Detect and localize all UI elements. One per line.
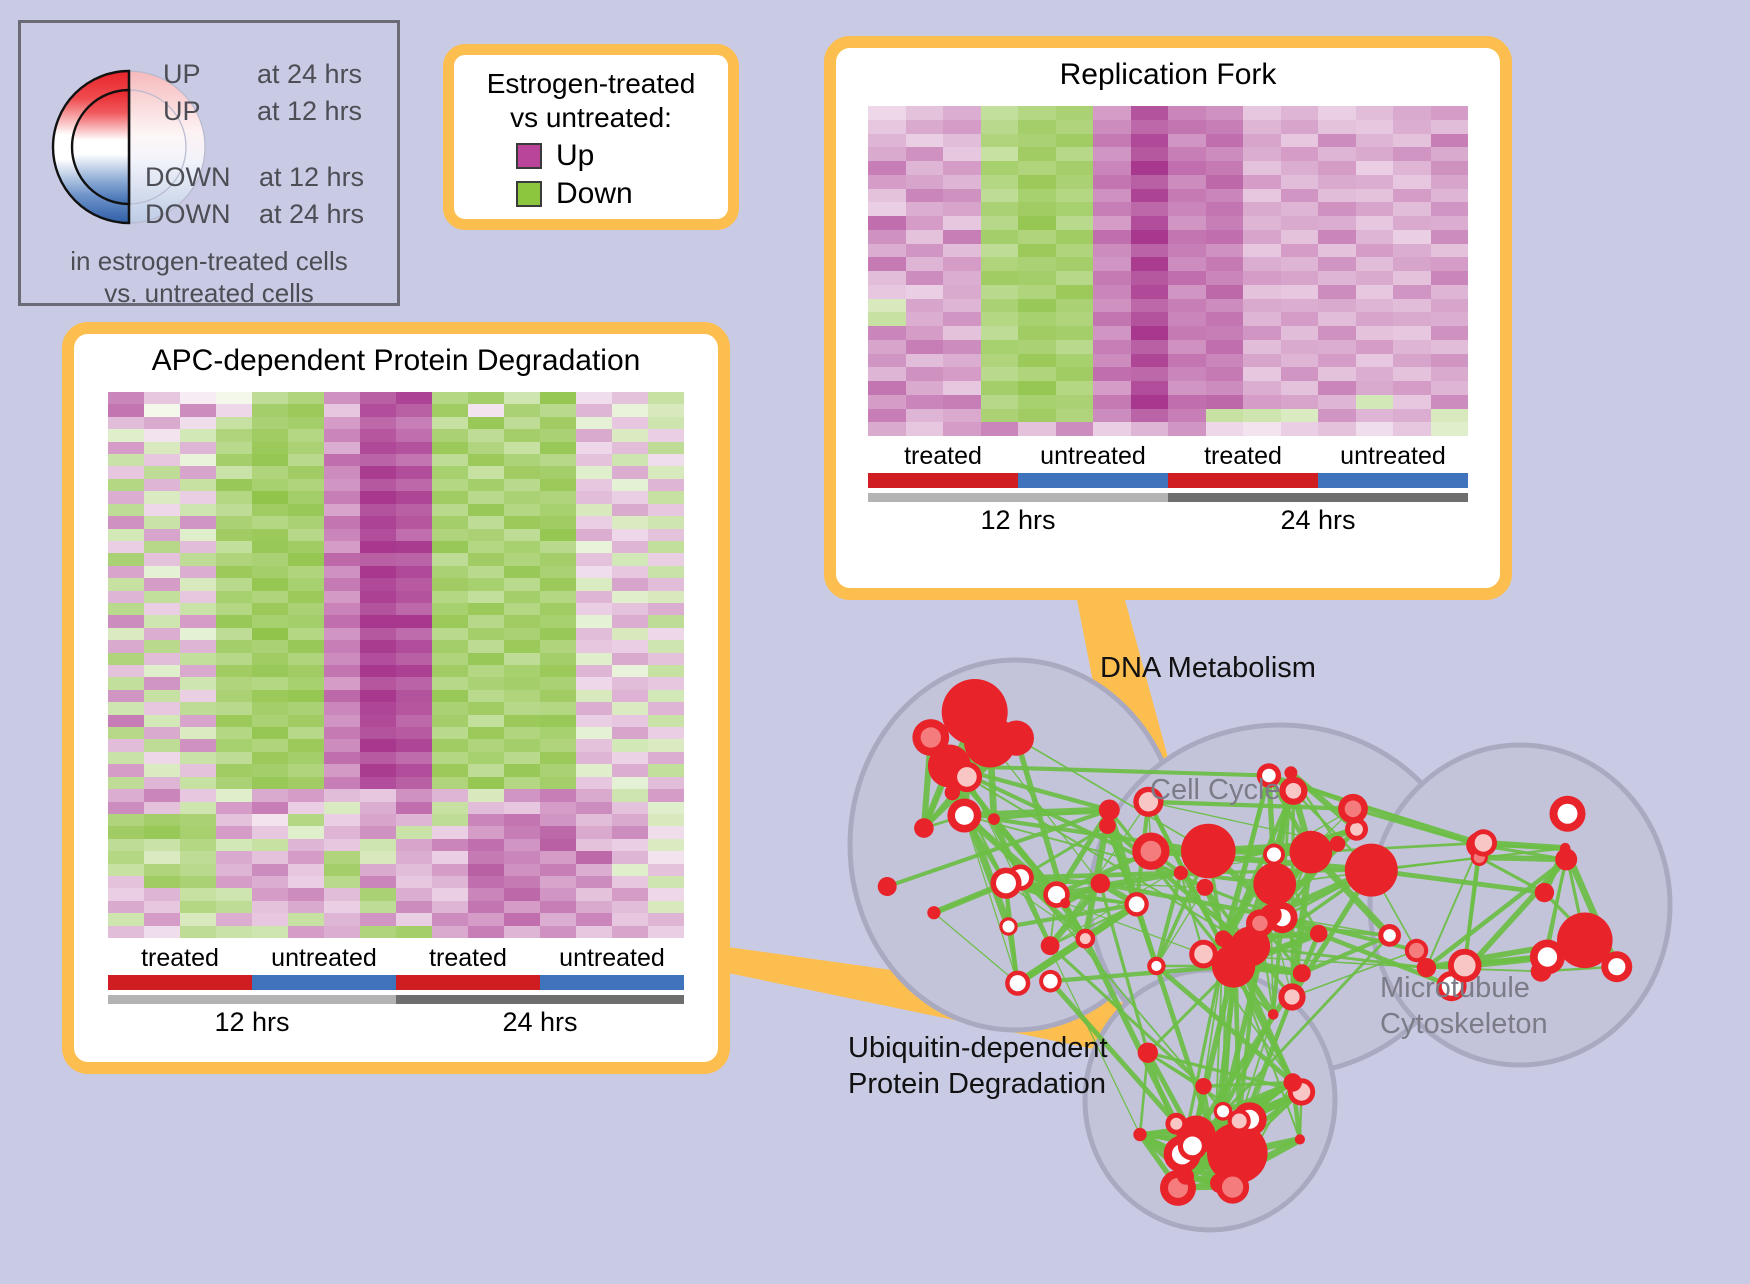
heatmap-cell — [906, 120, 944, 134]
heatmap-cell — [504, 727, 540, 739]
heatmap-cell — [648, 615, 684, 627]
heatmap-cell — [943, 271, 981, 285]
heatmap-cell — [252, 826, 288, 838]
heatmap-cell — [1281, 147, 1319, 161]
network-node[interactable] — [1253, 863, 1296, 906]
replication-time-bars — [868, 493, 1468, 502]
heatmap-cell — [504, 653, 540, 665]
heatmap-cell — [981, 299, 1019, 313]
heatmap-cell — [1168, 161, 1206, 175]
heatmap-cell — [360, 417, 396, 429]
network-node-core — [1080, 933, 1091, 944]
heatmap-cell — [943, 147, 981, 161]
heatmap-cell — [612, 926, 648, 938]
heatmap-cell — [252, 603, 288, 615]
heatmap-cell — [180, 839, 216, 851]
heatmap-cell — [1356, 189, 1394, 203]
heatmap-cell — [432, 566, 468, 578]
network-node[interactable] — [1133, 1128, 1146, 1141]
heatmap-cell — [504, 876, 540, 888]
heatmap-cell — [288, 566, 324, 578]
heatmap-cell — [504, 541, 540, 553]
heatmap-cell — [576, 690, 612, 702]
network-node-core — [1267, 847, 1281, 861]
heatmap-cell — [324, 913, 360, 925]
heatmap-cell — [612, 615, 648, 627]
cluster-label-dna-metabolism: DNA Metabolism — [1100, 650, 1316, 686]
heatmap-cell — [612, 541, 648, 553]
network-node[interactable] — [1330, 836, 1346, 852]
heatmap-cell — [1093, 299, 1131, 313]
heatmap-cell — [540, 504, 576, 516]
heatmap-cell — [1168, 299, 1206, 313]
heatmap-cell — [144, 591, 180, 603]
heatmap-cell — [216, 702, 252, 714]
network-node[interactable] — [878, 877, 897, 896]
heatmap-cell — [468, 901, 504, 913]
heatmap-cell — [288, 529, 324, 541]
heatmap-cell — [648, 690, 684, 702]
panel-replication-title: Replication Fork — [836, 48, 1500, 92]
heatmap-cell — [144, 404, 180, 416]
heatmap-cell — [180, 591, 216, 603]
heatmap-cell — [1018, 106, 1056, 120]
heatmap-cell — [981, 202, 1019, 216]
heatmap-cell — [576, 826, 612, 838]
heatmap-cell — [1056, 271, 1094, 285]
heatmap-cell — [943, 409, 981, 423]
heatmap-cell — [1206, 381, 1244, 395]
heatmap-cell — [1431, 395, 1469, 409]
network-node[interactable] — [1138, 1043, 1158, 1063]
heatmap-cell — [252, 715, 288, 727]
heatmap-cell — [360, 752, 396, 764]
heatmap-cell — [504, 777, 540, 789]
heatmap-cell — [612, 516, 648, 528]
heatmap-cell — [868, 381, 906, 395]
heatmap-cell — [1093, 244, 1131, 258]
network-node[interactable] — [1535, 883, 1554, 902]
heatmap-cell — [1356, 381, 1394, 395]
heatmap-cell — [108, 615, 144, 627]
heatmap-cell — [504, 826, 540, 838]
heatmap-cell — [396, 628, 432, 640]
heatmap-cell — [1056, 354, 1094, 368]
heatmap-cell — [324, 541, 360, 553]
heatmap-cell — [1393, 244, 1431, 258]
heatmap-cell — [576, 553, 612, 565]
network-node[interactable] — [988, 813, 1000, 825]
heatmap-cell — [1168, 422, 1206, 436]
heatmap-cell — [108, 888, 144, 900]
heatmap-cell — [108, 516, 144, 528]
apc-group-bars — [108, 975, 684, 990]
network-node[interactable] — [1204, 1133, 1226, 1155]
heatmap-cell — [324, 665, 360, 677]
heatmap-cell — [612, 702, 648, 714]
network-node[interactable] — [1181, 824, 1236, 879]
heatmap-cell — [906, 216, 944, 230]
heatmap-cell — [324, 702, 360, 714]
heatmap-cell — [144, 479, 180, 491]
heatmap-cell — [1431, 299, 1469, 313]
heatmap-cell — [648, 926, 684, 938]
heatmap-cell — [432, 516, 468, 528]
heatmap-cell — [868, 216, 906, 230]
heatmap-cell — [108, 814, 144, 826]
heatmap-cell — [1356, 244, 1394, 258]
heatmap-cell — [324, 802, 360, 814]
heatmap-cell — [868, 244, 906, 258]
heatmap-cell — [360, 851, 396, 863]
heatmap-cell — [1393, 312, 1431, 326]
heatmap-cell — [468, 404, 504, 416]
heatmap-cell — [108, 479, 144, 491]
heatmap-cell — [1168, 395, 1206, 409]
heatmap-cell — [1093, 312, 1131, 326]
network-node[interactable] — [1295, 1134, 1305, 1144]
heatmap-cell — [576, 739, 612, 751]
heatmap-cell — [504, 864, 540, 876]
heatmap-cell — [396, 888, 432, 900]
heatmap-cell — [648, 777, 684, 789]
heatmap-cell — [906, 134, 944, 148]
pathway-network-graph[interactable]: DNA Metabolism Cell Cycle Microtubule Cy… — [780, 600, 1740, 1279]
heatmap-cell — [1131, 134, 1169, 148]
heatmap-cell — [216, 417, 252, 429]
heatmap-cell — [432, 715, 468, 727]
heatmap-cell — [432, 789, 468, 801]
heatmap-cell — [468, 727, 504, 739]
heatmap-cell — [144, 876, 180, 888]
apc-group-3: untreated — [540, 944, 684, 973]
apc-group-1: untreated — [252, 944, 396, 973]
network-node-core — [1183, 1137, 1202, 1156]
heatmap-cell — [1131, 189, 1169, 203]
heatmap-cell — [216, 504, 252, 516]
ring-legend-box: UP at 24 hrs UP at 12 hrs DOWN at 12 hrs… — [18, 20, 400, 306]
heatmap-cell — [216, 814, 252, 826]
heatmap-cell — [324, 876, 360, 888]
heatmap-cell — [576, 913, 612, 925]
network-node[interactable] — [1268, 1009, 1279, 1020]
heatmap-cell — [504, 690, 540, 702]
heatmap-cell — [504, 529, 540, 541]
heatmap-cell — [1431, 175, 1469, 189]
heatmap-cell — [612, 442, 648, 454]
heatmap-cell — [1281, 340, 1319, 354]
heatmap-cell — [540, 764, 576, 776]
heatmap-cell — [504, 702, 540, 714]
heatmap-cell — [1131, 367, 1169, 381]
heatmap-cell — [360, 566, 396, 578]
heatmap-cell — [540, 404, 576, 416]
heatmap-cell — [981, 106, 1019, 120]
heatmap-cell — [396, 864, 432, 876]
heatmap-cell — [1281, 381, 1319, 395]
heatmap-cell — [1431, 326, 1469, 340]
heatmap-cell — [216, 739, 252, 751]
heatmap-cell — [324, 677, 360, 689]
heatmap-cell — [1206, 312, 1244, 326]
heatmap-cell — [1393, 326, 1431, 340]
ring-legend-footer: in estrogen-treated cells vs. untreated … — [21, 245, 397, 309]
heatmap-cell — [612, 553, 648, 565]
heatmap-cell — [612, 789, 648, 801]
heatmap-cell — [216, 802, 252, 814]
heatmap-cell — [1206, 230, 1244, 244]
heatmap-cell — [144, 926, 180, 938]
heatmap-cell — [1131, 395, 1169, 409]
heatmap-cell — [648, 466, 684, 478]
heatmap-cell — [1356, 367, 1394, 381]
network-node[interactable] — [1293, 964, 1311, 982]
heatmap-cell — [981, 244, 1019, 258]
figure-root: UP at 24 hrs UP at 12 hrs DOWN at 12 hrs… — [0, 0, 1750, 1279]
heatmap-cell — [1093, 202, 1131, 216]
heatmap-cell — [1018, 422, 1056, 436]
heatmap-cell — [108, 864, 144, 876]
network-node[interactable] — [1284, 766, 1297, 779]
heatmap-cell — [360, 864, 396, 876]
heatmap-cell — [540, 479, 576, 491]
heatmap-cell — [1018, 230, 1056, 244]
heatmap-cell — [1431, 271, 1469, 285]
network-node[interactable] — [1310, 925, 1328, 943]
heatmap-cell — [540, 442, 576, 454]
heatmap-cell — [288, 901, 324, 913]
heatmap-cell — [1018, 120, 1056, 134]
heatmap-cell — [540, 876, 576, 888]
network-node[interactable] — [1041, 936, 1060, 955]
heatmap-cell — [612, 404, 648, 416]
heatmap-cell — [216, 516, 252, 528]
heatmap-cell — [1093, 189, 1131, 203]
heatmap-cell — [468, 677, 504, 689]
heatmap-cell — [360, 876, 396, 888]
heatmap-cell — [540, 839, 576, 851]
heatmap-cell — [1018, 147, 1056, 161]
heatmap-cell — [981, 134, 1019, 148]
heatmap-cell — [612, 566, 648, 578]
heatmap-cell — [108, 454, 144, 466]
heatmap-cell — [468, 913, 504, 925]
heatmap-cell — [180, 429, 216, 441]
heatmap-cell — [1318, 285, 1356, 299]
heatmap-cell — [1243, 299, 1281, 313]
heatmap-cell — [943, 161, 981, 175]
heatmap-cell — [504, 913, 540, 925]
heatmap-cell — [108, 541, 144, 553]
heatmap-cell — [868, 257, 906, 271]
network-node-core — [1232, 1114, 1247, 1129]
heatmap-cell — [468, 566, 504, 578]
heatmap-cell — [432, 764, 468, 776]
network-node[interactable] — [1560, 843, 1571, 854]
heatmap-cell — [868, 134, 906, 148]
network-node[interactable] — [1215, 930, 1231, 946]
network-node[interactable] — [1177, 1168, 1194, 1185]
heatmap-cell — [943, 299, 981, 313]
heatmap-cell — [396, 702, 432, 714]
heatmap-cell — [1056, 299, 1094, 313]
heatmap-cell — [144, 466, 180, 478]
heatmap-cell — [612, 864, 648, 876]
heatmap-cell — [1318, 367, 1356, 381]
heatmap-cell — [1431, 189, 1469, 203]
heatmap-cell — [576, 566, 612, 578]
heatmap-cell — [868, 409, 906, 423]
heatmap-cell — [180, 442, 216, 454]
heatmap-cell — [1281, 367, 1319, 381]
network-node[interactable] — [914, 818, 934, 838]
heatmap-cell — [1431, 367, 1469, 381]
heatmap-cell — [324, 466, 360, 478]
heatmap-cell — [648, 665, 684, 677]
heatmap-cell — [144, 454, 180, 466]
legend-row-2-label: DOWN — [145, 162, 230, 193]
heatmap-cell — [1281, 161, 1319, 175]
heatmap-cell — [252, 739, 288, 751]
heatmap-cell — [1018, 175, 1056, 189]
network-node[interactable] — [1231, 961, 1241, 971]
heatmap-cell — [943, 367, 981, 381]
heatmap-cell — [324, 603, 360, 615]
heatmap-cell — [1018, 134, 1056, 148]
heatmap-cell — [468, 466, 504, 478]
heatmap-cell — [868, 230, 906, 244]
network-node[interactable] — [999, 721, 1034, 756]
heatmap-cell — [324, 392, 360, 404]
heatmap-cell — [360, 764, 396, 776]
network-node[interactable] — [1091, 874, 1111, 894]
heatmap-cell — [108, 789, 144, 801]
heatmap-cell — [1243, 230, 1281, 244]
heatmap-cell — [648, 628, 684, 640]
heatmap-cell — [1206, 106, 1244, 120]
heatmap-cell — [396, 541, 432, 553]
heatmap-cell — [144, 491, 180, 503]
heatmap-cell — [396, 665, 432, 677]
heatmap-cell — [252, 417, 288, 429]
network-node[interactable] — [1290, 831, 1333, 874]
heatmap-cell — [1318, 257, 1356, 271]
apc-time-labels: 12 hrs 24 hrs — [108, 1007, 684, 1038]
heatmap-cell — [468, 628, 504, 640]
heatmap-cell — [648, 516, 684, 528]
network-node[interactable] — [927, 906, 940, 919]
heatmap-cell — [108, 901, 144, 913]
heatmap-cell — [252, 553, 288, 565]
heatmap-cell — [288, 640, 324, 652]
heatmap-cell — [288, 802, 324, 814]
heatmap-cell — [1356, 147, 1394, 161]
heatmap-cell — [1318, 161, 1356, 175]
heatmap-cell — [1281, 230, 1319, 244]
heatmap-cell — [288, 851, 324, 863]
heatmap-cell — [906, 312, 944, 326]
heatmap-cell — [216, 888, 252, 900]
network-node-core — [957, 767, 977, 787]
heatmap-cell — [1318, 395, 1356, 409]
heatmap-cell — [868, 367, 906, 381]
heatmap-cell — [360, 888, 396, 900]
heatmap-cell — [180, 640, 216, 652]
heatmap-cell — [648, 677, 684, 689]
heatmap-cell — [612, 851, 648, 863]
heatmap-cell — [144, 504, 180, 516]
heatmap-cell — [1093, 340, 1131, 354]
network-node[interactable] — [1099, 800, 1120, 821]
heatmap-cell — [108, 578, 144, 590]
heatmap-cell — [324, 640, 360, 652]
heatmap-cell — [540, 752, 576, 764]
heatmap-cell — [1243, 285, 1281, 299]
heatmap-cell — [1243, 395, 1281, 409]
network-node[interactable] — [1060, 898, 1070, 908]
heatmap-cell — [288, 417, 324, 429]
heatmap-cell — [943, 106, 981, 120]
heatmap-cell — [432, 926, 468, 938]
network-node[interactable] — [1284, 1073, 1302, 1091]
network-svg[interactable] — [780, 600, 1740, 1279]
network-node[interactable] — [1174, 866, 1188, 880]
heatmap-cell — [252, 814, 288, 826]
heatmap-cell — [108, 677, 144, 689]
heatmap-cell — [981, 189, 1019, 203]
heatmap-cell — [868, 271, 906, 285]
replication-group-labels: treated untreated treated untreated — [868, 442, 1468, 471]
heatmap-cell — [180, 628, 216, 640]
network-node[interactable] — [1345, 844, 1398, 897]
heatmap-cell — [180, 702, 216, 714]
network-node[interactable] — [1195, 1078, 1212, 1095]
heatmap-cell — [1318, 216, 1356, 230]
heatmap-cell — [108, 640, 144, 652]
heatmap-cell — [432, 429, 468, 441]
heatmap-cell — [1393, 147, 1431, 161]
heatmap-cell — [288, 628, 324, 640]
heatmap-cell — [1243, 409, 1281, 423]
heatmap-cell — [432, 876, 468, 888]
heatmap-cell — [576, 541, 612, 553]
heatmap-cell — [504, 615, 540, 627]
heatmap-cell — [648, 504, 684, 516]
heatmap-cell — [360, 739, 396, 751]
heatmap-cell — [396, 839, 432, 851]
heatmap-cell — [1356, 326, 1394, 340]
heatmap-cell — [540, 789, 576, 801]
heatmap-cell — [324, 789, 360, 801]
heatmap-cell — [981, 271, 1019, 285]
heatmap-cell — [108, 739, 144, 751]
heatmap-cell — [180, 615, 216, 627]
heatmap-cell — [868, 106, 906, 120]
heatmap-cell — [540, 578, 576, 590]
heatmap-cell — [1243, 106, 1281, 120]
heatmap-cell — [981, 354, 1019, 368]
heatmap-cell — [540, 466, 576, 478]
heatmap-cell — [216, 826, 252, 838]
heatmap-cell — [1318, 340, 1356, 354]
heatmap-cell — [1206, 409, 1244, 423]
heatmap-cell — [1168, 134, 1206, 148]
heatmap-cell — [360, 926, 396, 938]
heatmap-cell — [1168, 271, 1206, 285]
network-node[interactable] — [1196, 879, 1213, 896]
replication-bar-treated-24 — [1168, 473, 1318, 488]
heatmap-cell — [981, 312, 1019, 326]
